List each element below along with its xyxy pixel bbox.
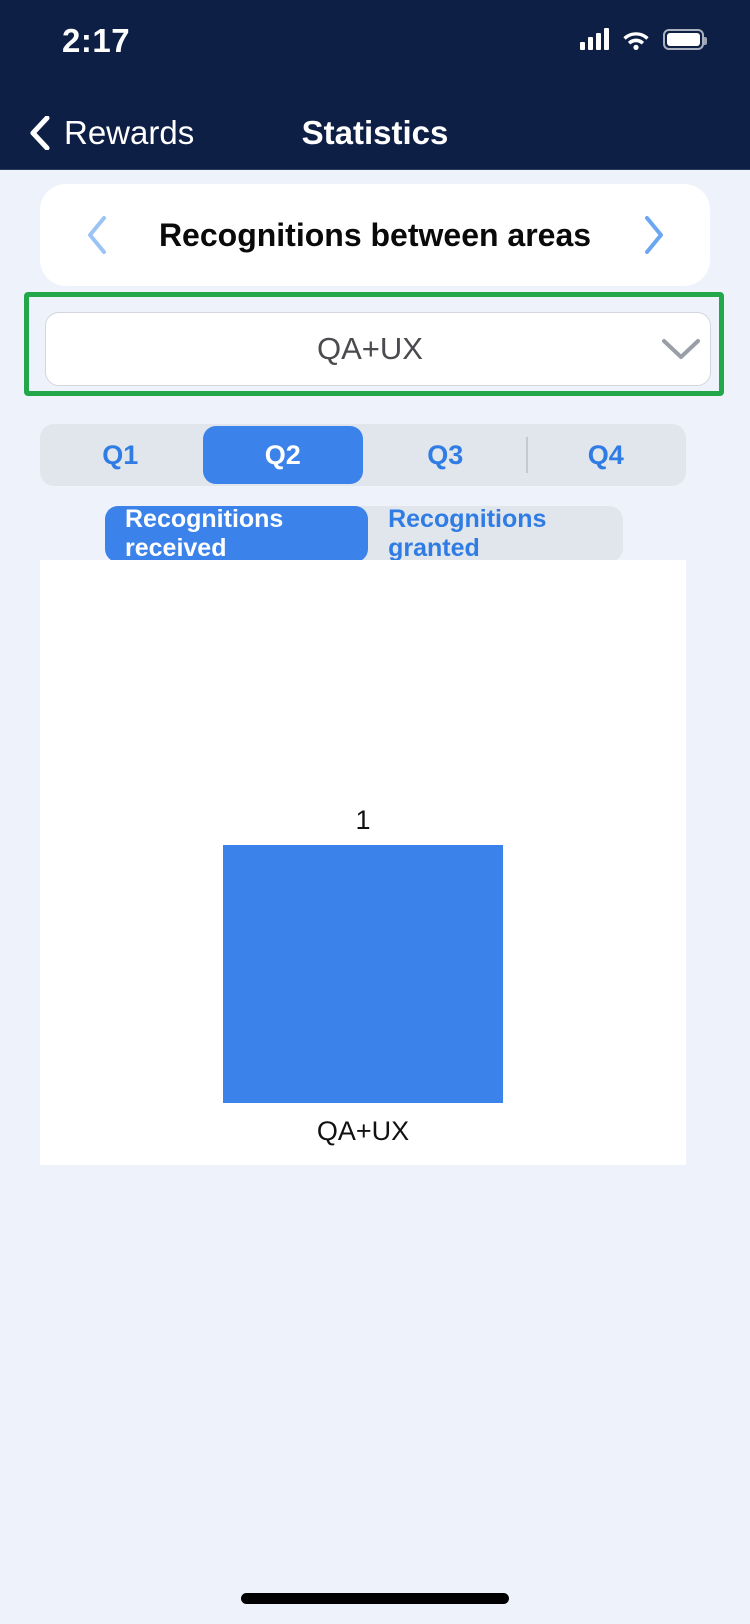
nav-bar: Rewards Statistics bbox=[0, 96, 750, 170]
tab-q2[interactable]: Q2 bbox=[203, 426, 364, 484]
status-time: 2:17 bbox=[62, 22, 130, 60]
battery-icon bbox=[663, 29, 704, 50]
chart-bar[interactable] bbox=[223, 845, 503, 1103]
page-title: Statistics bbox=[0, 96, 750, 170]
recognition-tabs: Recognitions received Recognitions grant… bbox=[105, 506, 623, 562]
wifi-icon bbox=[622, 29, 650, 50]
tab-recognitions-received[interactable]: Recognitions received bbox=[105, 506, 368, 562]
report-title-card: Recognitions between areas bbox=[40, 184, 710, 286]
bar-value-label: 1 bbox=[355, 805, 370, 836]
phone-screen: 2:17 Rewards Statistics bbox=[0, 0, 750, 1624]
bar-category-label: QA+UX bbox=[317, 1116, 409, 1147]
tab-q3[interactable]: Q3 bbox=[365, 424, 526, 486]
bar-group: 1 bbox=[223, 805, 503, 1103]
area-filter-dropdown[interactable]: QA+UX bbox=[45, 312, 711, 386]
tab-q4[interactable]: Q4 bbox=[526, 424, 687, 486]
tab-recognitions-granted[interactable]: Recognitions granted bbox=[368, 506, 623, 562]
chart-card: 1 QA+UX bbox=[40, 560, 686, 1165]
chevron-down-icon[interactable] bbox=[652, 338, 710, 360]
status-bar: 2:17 bbox=[0, 0, 750, 96]
prev-report-button[interactable] bbox=[74, 206, 120, 264]
status-icons bbox=[580, 28, 704, 50]
chevron-right-icon bbox=[641, 215, 665, 255]
area-filter-value: QA+UX bbox=[46, 331, 652, 367]
chevron-left-icon bbox=[85, 215, 109, 255]
next-report-button[interactable] bbox=[630, 206, 676, 264]
cellular-signal-icon bbox=[580, 28, 609, 50]
tab-q1[interactable]: Q1 bbox=[40, 424, 201, 486]
content-area: Recognitions between areas QA+UX Q1 Q2 bbox=[0, 170, 750, 1624]
bar-chart: 1 QA+UX bbox=[40, 560, 686, 1165]
quarter-segmented-control: Q1 Q2 Q3 Q4 bbox=[40, 424, 686, 486]
report-title: Recognitions between areas bbox=[120, 217, 630, 254]
area-filter-highlight: QA+UX bbox=[24, 292, 724, 396]
home-indicator bbox=[241, 1593, 509, 1604]
